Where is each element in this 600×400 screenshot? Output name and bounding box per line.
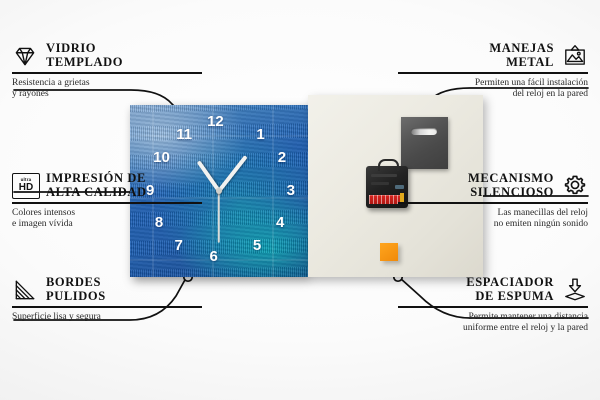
feature-title-line2: ALTA CALIDAD [46,186,147,200]
feature-subtitle-line1: Las manecillas del reloj [398,208,588,220]
feature-divider [12,306,202,308]
ultra-hd-icon: ultraHD [12,173,38,199]
feature-header: VIDRIO TEMPLADO [12,42,202,69]
diamond-icon [12,43,38,69]
feature-header: ESPACIADOR DE ESPUMA [398,276,588,303]
feature-title-line1: BORDES [46,276,106,290]
feature-bordes-pulidos: BORDES PULIDOS Superficie lisa y segura [12,276,202,323]
feature-header: MANEJAS METAL [398,42,588,69]
feature-title-line1: ESPACIADOR [466,276,554,290]
infographic-canvas: 12 1 2 3 4 5 6 7 8 9 10 11 [0,0,600,400]
feature-title-line1: VIDRIO [46,42,123,56]
clock-numeral-11: 11 [176,127,192,142]
clock-center-cap [216,188,222,194]
feature-subtitle-line2: e imagen vívida [12,219,202,231]
foam-spacer-icon [562,277,588,303]
feature-header: BORDES PULIDOS [12,276,202,303]
feature-subtitle-line1: Superficie lisa y segura [12,312,202,324]
feature-subtitle-line2: uniforme entre el reloj y la pared [398,323,588,335]
hanger-keyhole-slot [411,128,437,135]
feature-subtitle-line2: no emiten ningún sonido [398,219,588,231]
feature-title: VIDRIO TEMPLADO [46,42,123,69]
feature-subtitle-line1: Permiten una fácil instalación [398,78,588,90]
clock-numeral-10: 10 [153,150,170,165]
feature-title-line2: TEMPLADO [46,56,123,70]
mechanism-detail-mid [371,182,389,185]
feature-title: MANEJAS METAL [489,42,554,69]
feature-header: MECANISMO SILENCIOSO [398,172,588,199]
feature-title-line2: METAL [489,56,554,70]
feature-title-line2: SILENCIOSO [468,186,554,200]
feature-title: MECANISMO SILENCIOSO [468,172,554,199]
feature-title: ESPACIADOR DE ESPUMA [466,276,554,303]
feature-divider [398,306,588,308]
feature-manejas-metal: MANEJAS METAL Permiten una fácil instala… [398,42,588,101]
feature-divider [12,72,202,74]
feature-impresion-alta-calidad: ultraHD IMPRESIÓN DE ALTA CALIDAD Colore… [12,172,202,231]
clock-numeral-7: 7 [175,238,183,253]
gear-icon [562,173,588,199]
picture-frame-icon [562,43,588,69]
metal-hanger-plate-icon [401,117,448,169]
clock-numeral-3: 3 [287,183,295,198]
feature-title-line2: PULIDOS [46,290,106,304]
feature-subtitle-line2: y rayones [12,89,202,101]
mechanism-hanging-loop [378,159,399,171]
clock-numeral-1: 1 [256,127,264,142]
feature-divider [12,202,202,204]
feature-divider [398,72,588,74]
feature-subtitle-line2: del reloj en la pared [398,89,588,101]
feature-espaciador-de-espuma: ESPACIADOR DE ESPUMA Permite mantener un… [398,276,588,335]
clock-numeral-2: 2 [278,150,286,165]
feature-mecanismo-silencioso: MECANISMO SILENCIOSO Las manecillas del … [398,172,588,231]
clock-numeral-6: 6 [209,249,217,264]
feature-subtitle-line1: Colores intensos [12,208,202,220]
mechanism-detail-top [371,174,397,177]
feature-title-line2: DE ESPUMA [466,290,554,304]
clock-numeral-12: 12 [207,114,224,129]
clock-numeral-5: 5 [253,238,261,253]
clock-numeral-4: 4 [276,215,284,230]
feature-subtitle-line1: Resistencia a grietas [12,78,202,90]
second-hand-icon [218,191,220,243]
feature-divider [398,202,588,204]
feature-title: IMPRESIÓN DE ALTA CALIDAD [46,172,147,199]
feature-title-line1: IMPRESIÓN DE [46,172,147,186]
feature-subtitle-line1: Permite mantener una distancia [398,312,588,324]
feature-vidrio-templado: VIDRIO TEMPLADO Resistencia a grietas y … [12,42,202,101]
feature-header: ultraHD IMPRESIÓN DE ALTA CALIDAD [12,172,202,199]
feature-title: BORDES PULIDOS [46,276,106,303]
foam-spacer-square [380,243,398,261]
polished-edge-icon [12,277,38,303]
feature-title-line1: MANEJAS [489,42,554,56]
feature-title-line1: MECANISMO [468,172,554,186]
